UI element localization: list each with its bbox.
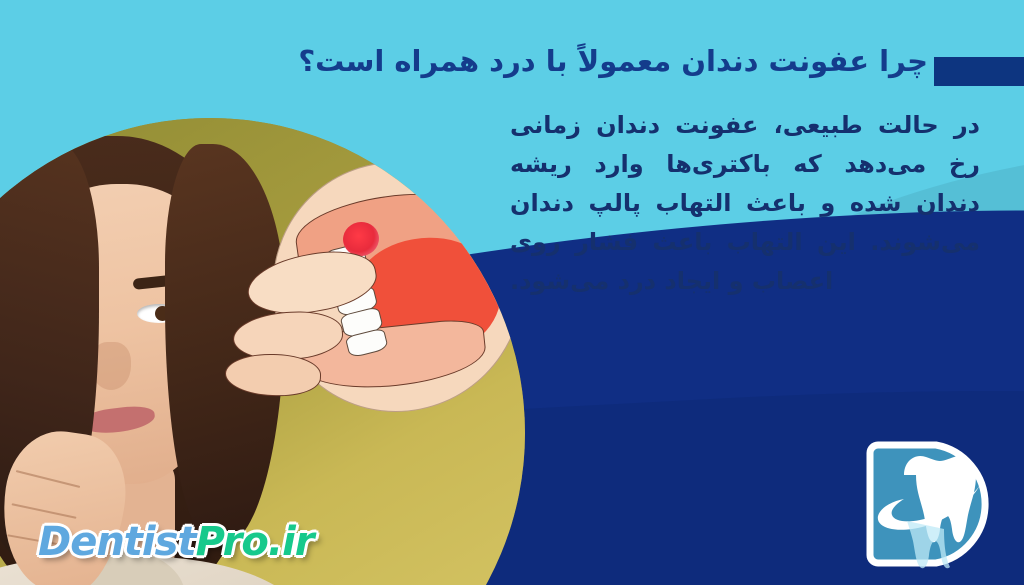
photo-circle <box>0 118 525 585</box>
title-accent-bar <box>934 57 1024 86</box>
brand-wordmark[interactable]: DentistPro.ir <box>38 519 314 565</box>
body-paragraph: در حالت طبیعی، عفونت دندان زمانی رخ می‌د… <box>510 106 980 300</box>
infographic-canvas: چرا عفونت دندان معمولاً با درد همراه است… <box>0 0 1024 585</box>
page-title: چرا عفونت دندان معمولاً با درد همراه است… <box>148 40 928 84</box>
wordmark-part-proir: Pro.ir <box>196 519 314 565</box>
wordmark-part-dentist: Dentist <box>38 519 196 565</box>
open-mouth-illustration <box>255 144 525 444</box>
brand-logo[interactable] <box>860 429 1018 579</box>
